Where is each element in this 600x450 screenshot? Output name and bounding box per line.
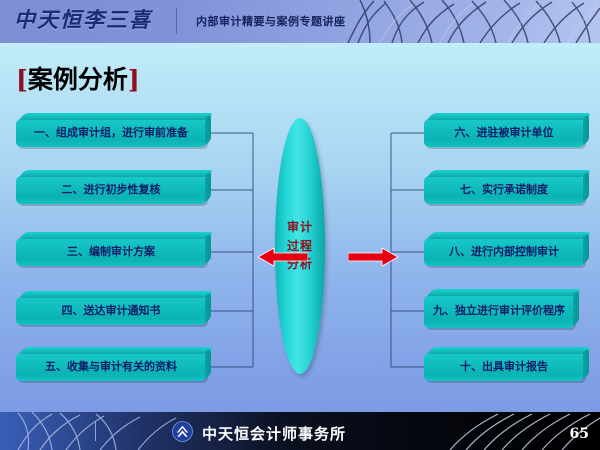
process-step-box-1[interactable]: 一、组成审计组，进行审前准备: [16, 119, 206, 147]
process-step-label-9: 九、独立进行审计评价程序: [433, 304, 565, 319]
process-step-label-4: 四、送达审计通知书: [62, 304, 161, 319]
title-bracket-open: [: [16, 65, 28, 94]
process-step-box-10[interactable]: 十、出具审计报告: [424, 353, 584, 381]
red-arrow-left-icon: [258, 248, 308, 266]
footer-company-name: 中天恒会计师事务所: [202, 423, 346, 444]
page-title: [案例分析]: [16, 60, 140, 96]
process-step-label-5: 五、收集与审计有关的资料: [45, 360, 177, 375]
process-step-box-6[interactable]: 六、进驻被审计单位: [424, 119, 584, 147]
center-node-oval[interactable]: 审计 过程 分析: [275, 118, 325, 374]
process-step-label-10: 十、出具审计报告: [460, 360, 548, 375]
page-number: 65: [570, 426, 589, 442]
process-step-label-8: 八、进行内部控制审计: [449, 245, 559, 260]
process-step-label-3: 三、编制审计方案: [67, 245, 155, 260]
process-step-box-5[interactable]: 五、收集与审计有关的资料: [16, 353, 206, 381]
red-arrow-right-icon: [348, 248, 398, 266]
process-step-box-4[interactable]: 四、送达审计通知书: [16, 297, 206, 325]
title-text: 案例分析: [28, 65, 128, 94]
vertical-divider-icon: [176, 8, 177, 34]
reed-grass-decoration-icon: [340, 0, 600, 43]
reed-grass-decoration-icon: [0, 412, 200, 450]
mountain-chevron-logo-icon: [172, 421, 193, 442]
process-step-box-7[interactable]: 七、实行承诺制度: [424, 176, 584, 204]
process-step-box-3[interactable]: 三、编制审计方案: [16, 238, 206, 266]
footer-divider-icon: [95, 422, 96, 441]
header-brand: 中天恒李三喜: [14, 4, 152, 34]
slide-canvas: 中天恒李三喜 内部审计精要与案例专题讲座 [案例分析] 一、组: [0, 0, 600, 450]
process-step-box-9[interactable]: 九、独立进行审计评价程序: [424, 295, 574, 328]
header-subtitle: 内部审计精要与案例专题讲座: [196, 13, 346, 29]
process-step-label-2: 二、进行初步性复核: [62, 183, 161, 198]
slide-footer: 中天恒会计师事务所 65: [0, 412, 600, 450]
title-bracket-close: ]: [128, 65, 140, 94]
process-step-label-6: 六、进驻被审计单位: [455, 126, 554, 141]
process-step-label-1: 一、组成审计组，进行审前准备: [34, 126, 188, 141]
process-step-box-2[interactable]: 二、进行初步性复核: [16, 176, 206, 204]
slide-header: 中天恒李三喜 内部审计精要与案例专题讲座: [0, 0, 600, 43]
process-step-box-8[interactable]: 八、进行内部控制审计: [424, 238, 584, 266]
center-node-line-1: 审计: [287, 218, 313, 237]
process-step-label-7: 七、实行承诺制度: [460, 183, 548, 198]
